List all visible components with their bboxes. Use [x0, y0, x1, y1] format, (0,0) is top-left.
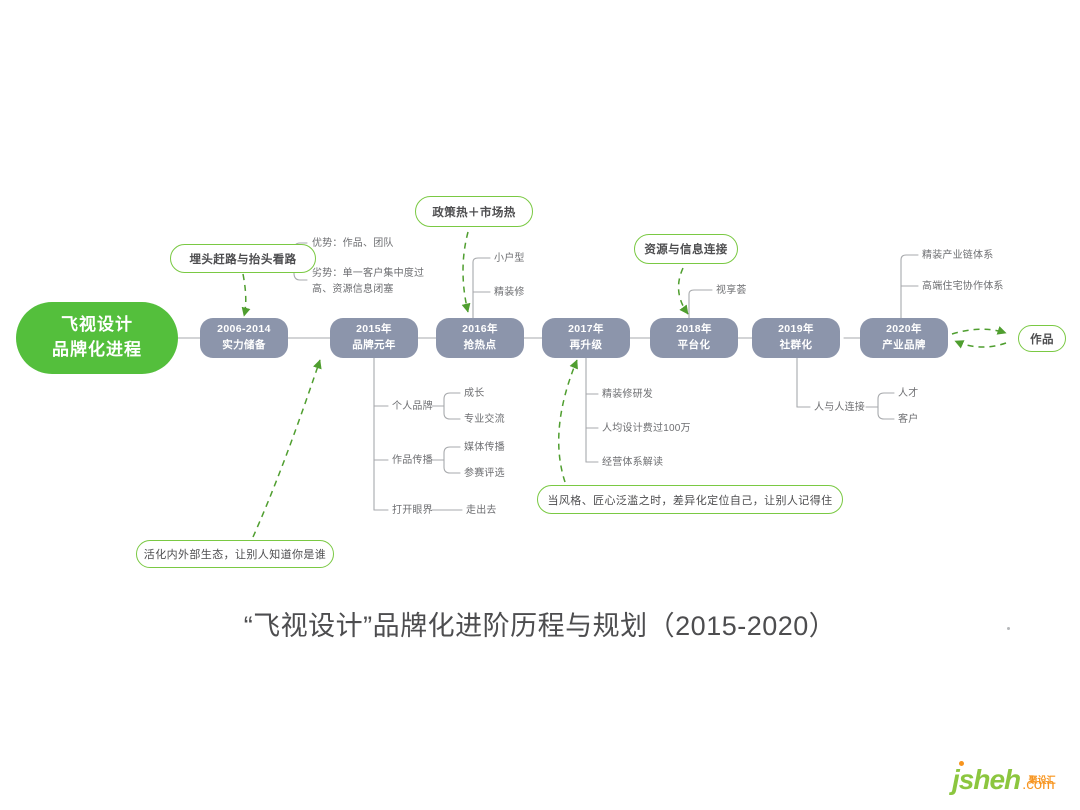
logo-dot-icon [959, 761, 964, 766]
leaf-2020-chain-system: 精装产业链体系 [922, 248, 993, 264]
timeline-node-2016[interactable]: 2016年 抢热点 [436, 318, 524, 358]
timeline-node-theme: 品牌元年 [352, 338, 396, 354]
leaf-2006-advantage: 优势：作品、团队 [312, 236, 394, 252]
leaf-2019-people-connect: 人与人连接 [814, 400, 865, 416]
arrow-2020-to-works [952, 329, 1006, 334]
bubble-strategy-2006[interactable]: 埋头赶路与抬头看路 [170, 244, 316, 273]
leaf-2020-highend-system: 高端住宅协作体系 [922, 279, 1004, 295]
leaf-2017-management-system: 经营体系解读 [602, 455, 663, 471]
leaf-2017-fee-per-capita: 人均设计费过100万 [602, 421, 691, 437]
leaf-2016-fine-decoration: 精装修 [494, 285, 525, 301]
timeline-node-theme: 社群化 [780, 338, 813, 354]
wire-2018-shixiang [689, 290, 712, 300]
leaf-2018-shixianghui: 视享荟 [716, 283, 747, 299]
logo-domain-wrap: 聚设汇 .com [1022, 776, 1055, 794]
bubble-resource-2018[interactable]: 资源与信息连接 [634, 234, 738, 264]
timeline-node-theme: 平台化 [678, 338, 711, 354]
bubble-works-2020[interactable]: 作品 [1018, 325, 1066, 352]
bubble-differentiate-2017[interactable]: 当风格、匠心泛滥之时，差异化定位自己，让别人记得住 [537, 485, 843, 514]
root-node-line1: 飞视设计 [61, 313, 133, 338]
timeline-node-year: 2017年 [568, 322, 604, 338]
timeline-node-2018[interactable]: 2018年 平台化 [650, 318, 738, 358]
bubble-ecosystem-2015[interactable]: 活化内外部生态，让别人知道你是谁 [136, 540, 334, 568]
leaf-2006-disadvantage: 劣势：单一客户集中度过高、资源信息闭塞 [312, 266, 428, 297]
timeline-node-2015[interactable]: 2015年 品牌元年 [330, 318, 418, 358]
leaf-2019-talent: 人才 [898, 386, 918, 402]
arrow-resource-to-2018 [679, 268, 688, 314]
wire-2016-small [473, 258, 490, 272]
timeline-node-2006-2014[interactable]: 2006-2014 实力储备 [200, 318, 288, 358]
leaf-2015-open-horizon: 打开眼界 [392, 503, 433, 519]
leaf-2015-works-competition: 参赛评选 [464, 466, 505, 482]
leaf-2015-go-out: 走出去 [466, 503, 497, 519]
page-title: “飞视设计”品牌化进阶历程与规划（2015-2020） [0, 604, 1080, 643]
site-logo[interactable]: jsheh 聚设汇 .com [952, 766, 1055, 794]
leaf-2016-small-unit: 小户型 [494, 251, 525, 267]
wire-2020-b1 [901, 255, 918, 295]
bracket-personal-brand [444, 393, 450, 419]
leaf-2015-works-spread: 作品传播 [392, 453, 433, 469]
timeline-node-2020[interactable]: 2020年 产业品牌 [860, 318, 948, 358]
timeline-node-year: 2019年 [778, 322, 814, 338]
leaf-2017-rnd: 精装修研发 [602, 387, 653, 403]
arrow-works-to-2020 [955, 341, 1006, 347]
bubble-policy-2016[interactable]: 政策热＋市场热 [415, 196, 533, 227]
timeline-node-year: 2016年 [462, 322, 498, 338]
bracket-works-spread [444, 447, 450, 473]
logo-wordmark-wrap: jsheh [952, 766, 1020, 794]
timeline-node-theme: 产业品牌 [882, 338, 926, 354]
decorative-dot [1007, 627, 1010, 630]
connector-layer [0, 0, 1080, 810]
root-node[interactable]: 飞视设计 品牌化进程 [16, 302, 178, 374]
timeline-node-theme: 实力储备 [222, 338, 266, 354]
root-node-line2: 品牌化进程 [52, 338, 142, 363]
arrow-ecosystem-to-2015 [253, 360, 320, 537]
timeline-node-theme: 再升级 [570, 338, 603, 354]
leaf-2015-works-media: 媒体传播 [464, 440, 505, 456]
arrow-policy-to-2016 [463, 232, 468, 312]
timeline-node-year: 2006-2014 [217, 322, 271, 338]
diagram-canvas: 飞视设计 品牌化进程 2006-2014 实力储备 2015年 品牌元年 201… [0, 0, 1080, 810]
arrow-differentiate-to-2017 [559, 360, 577, 482]
logo-wordmark: jsheh [952, 764, 1020, 795]
leaf-2019-client: 客户 [898, 412, 918, 428]
timeline-node-year: 2015年 [356, 322, 392, 338]
timeline-node-year: 2018年 [676, 322, 712, 338]
timeline-node-theme: 抢热点 [464, 338, 497, 354]
leaf-2015-personal-brand-exchange: 专业交流 [464, 412, 505, 428]
bracket-people-connect [878, 393, 884, 419]
timeline-node-2017[interactable]: 2017年 再升级 [542, 318, 630, 358]
leaf-2015-personal-brand: 个人品牌 [392, 399, 433, 415]
arrow-strategy-to-2006 [243, 274, 246, 316]
logo-chinese-name: 聚设汇 [1029, 776, 1056, 785]
timeline-node-year: 2020年 [886, 322, 922, 338]
leaf-2015-personal-brand-growth: 成长 [464, 386, 484, 402]
timeline-node-2019[interactable]: 2019年 社群化 [752, 318, 840, 358]
